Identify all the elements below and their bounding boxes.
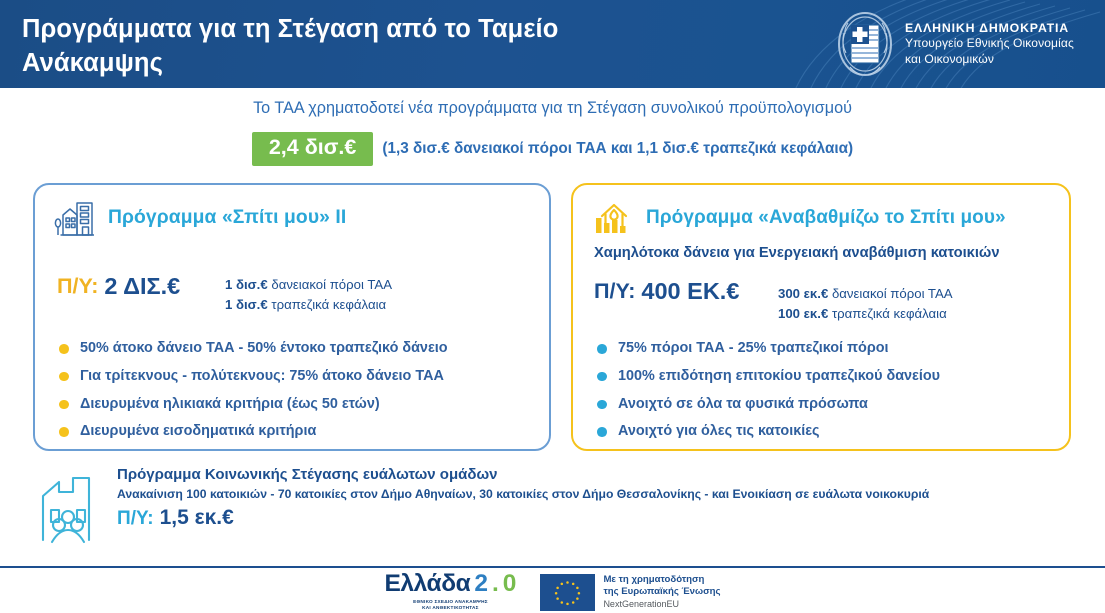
list-item: 50% άτοκο δάνειο ΤΑΑ - 50% έντοκο τραπεζ… (59, 340, 537, 357)
social-housing-section: Πρόγραμμα Κοινωνικής Στέγασης ευάλωτων ο… (33, 466, 1073, 552)
slide-header: Προγράμματα για τη Στέγαση από το Ταμείο… (0, 0, 1105, 88)
budget-value-right: 400 ΕΚ.€ (641, 279, 739, 305)
footer-divider (0, 566, 1105, 568)
breakdown-row: 1 δισ.€ τραπεζικά κεφάλαια (225, 295, 392, 315)
budget-label-right: Π/Υ: (594, 279, 635, 304)
building-house-icon (54, 199, 96, 237)
government-logo: ΕΛΛΗΝΙΚΗ ΔΗΜΟΚΡΑΤΙΑ Υπουργείο Εθνικής Οι… (836, 8, 1098, 80)
breakdown-amount: 1 δισ.€ (225, 297, 268, 312)
breakdown-amount: 300 εκ.€ (778, 286, 828, 301)
total-budget-row: 2,4 δισ.€ (1,3 δισ.€ δανειακοί πόροι ΤΑΑ… (0, 132, 1105, 166)
list-item: Ανοιχτό σε όλα τα φυσικά πρόσωπα (597, 396, 1057, 413)
slide-footer: Ελλάδα 2 . 0 ΕΘΝΙΚΟ ΣΧΕΔΙΟ ΑΝΑΚΑΜΨΗΣ ΚΑΙ… (0, 572, 1105, 613)
ellada-logo-subtitle: ΕΘΝΙΚΟ ΣΧΕΔΙΟ ΑΝΑΚΑΜΨΗΣ ΚΑΙ ΑΝΘΕΚΤΙΚΟΤΗΤ… (413, 599, 488, 613)
list-item: 100% επιδότηση επιτοκίου τραπεζικού δανε… (597, 368, 1057, 385)
bullet-list-right: 75% πόροι ΤΑΑ - 25% τραπεζικοί πόροι 100… (597, 340, 1057, 451)
breakdown-amount: 1 δισ.€ (225, 277, 268, 292)
eu-funding-block: Με τη χρηματοδότηση της Ευρωπαϊκής Ένωση… (540, 574, 720, 611)
slide-root: Προγράμματα για τη Στέγαση από το Ταμείο… (0, 0, 1105, 613)
program-card-spiti-mou-2[interactable]: Πρόγραμμα «Σπίτι μου» II Π/Υ: 2 ΔΙΣ.€ 1 … (33, 183, 551, 451)
budget-breakdown-right: 300 εκ.€ δανειακοί πόροι ΤΑΑ 100 εκ.€ τρ… (778, 284, 953, 324)
ellada-zero: 0 (503, 572, 517, 597)
breakdown-row: 300 εκ.€ δανειακοί πόροι ΤΑΑ (778, 284, 953, 304)
breakdown-text: δανειακοί πόροι ΤΑΑ (271, 277, 392, 292)
greek-coat-of-arms-icon (836, 11, 894, 77)
ellada-logo-wordmark: Ελλάδα 2 . 0 (384, 572, 516, 597)
social-housing-description: Ανακαίνιση 100 κατοικιών - 70 κατοικίες … (117, 487, 929, 501)
government-logo-text: ΕΛΛΗΝΙΚΗ ΔΗΜΟΚΡΑΤΙΑ Υπουργείο Εθνικής Οι… (905, 21, 1074, 68)
budget-left: Π/Υ: 2 ΔΙΣ.€ (57, 274, 180, 300)
eu-funding-line2: της Ευρωπαϊκής Ένωσης (603, 586, 720, 598)
gov-title-line3: και Οικονομικών (905, 52, 1074, 67)
social-housing-title: Πρόγραμμα Κοινωνικής Στέγασης ευάλωτων ο… (117, 466, 929, 483)
total-budget-badge: 2,4 δισ.€ (252, 132, 374, 166)
card-title-right: Πρόγραμμα «Αναβαθμίζω το Σπίτι μου» (646, 207, 1006, 229)
program-card-anavathmizo[interactable]: Πρόγραμμα «Αναβαθμίζω το Σπίτι μου» Χαμη… (571, 183, 1071, 451)
card-header-right: Πρόγραμμα «Αναβαθμίζω το Σπίτι μου» (592, 199, 1006, 237)
breakdown-text: τραπεζικά κεφάλαια (271, 297, 386, 312)
list-item: Για τρίτεκνους - πολύτεκνους: 75% άτοκο … (59, 368, 537, 385)
card-header-left: Πρόγραμμα «Σπίτι μου» II (54, 199, 346, 237)
gov-title-line1: ΕΛΛΗΝΙΚΗ ΔΗΜΟΚΡΑΤΙΑ (905, 21, 1074, 37)
social-housing-people-icon (33, 470, 103, 548)
gov-title-line2: Υπουργείο Εθνικής Οικονομίας (905, 36, 1074, 51)
list-item: Διευρυμένα εισοδηματικά κριτήρια (59, 423, 537, 440)
card-title-left: Πρόγραμμα «Σπίτι μου» II (108, 207, 346, 229)
eu-flag-icon (540, 574, 595, 611)
intro-subtitle: Το ΤΑΑ χρηματοδοτεί νέα προγράμματα για … (0, 99, 1105, 118)
budget-breakdown-left: 1 δισ.€ δανειακοί πόροι ΤΑΑ 1 δισ.€ τραπ… (225, 275, 392, 315)
budget-value-left: 2 ΔΙΣ.€ (104, 274, 180, 300)
social-housing-budget: Π/Υ: 1,5 εκ.€ (117, 506, 929, 530)
ellada-two: 2 (474, 572, 488, 597)
list-item: Διευρυμένα ηλικιακά κριτήρια (έως 50 ετώ… (59, 396, 537, 413)
ellada-dot: . (492, 572, 499, 597)
breakdown-row: 1 δισ.€ δανειακοί πόροι ΤΑΑ (225, 275, 392, 295)
eu-funding-text: Με τη χρηματοδότηση της Ευρωπαϊκής Ένωση… (603, 574, 720, 609)
ellada-word: Ελλάδα (384, 572, 470, 597)
breakdown-text: δανειακοί πόροι ΤΑΑ (832, 286, 953, 301)
budget-label-social: Π/Υ: (117, 508, 154, 530)
budget-right: Π/Υ: 400 ΕΚ.€ (594, 279, 739, 305)
footer-logos: Ελλάδα 2 . 0 ΕΘΝΙΚΟ ΣΧΕΔΙΟ ΑΝΑΚΑΜΨΗΣ ΚΑΙ… (0, 572, 1105, 612)
ellada-2-0-logo: Ελλάδα 2 . 0 ΕΘΝΙΚΟ ΣΧΕΔΙΟ ΑΝΑΚΑΜΨΗΣ ΚΑΙ… (384, 572, 516, 612)
bullet-list-left: 50% άτοκο δάνειο ΤΑΑ - 50% έντοκο τραπεζ… (59, 340, 537, 451)
list-item: Ανοιχτό για όλες τις κατοικίες (597, 423, 1057, 440)
budget-value-social: 1,5 εκ.€ (160, 506, 234, 529)
eu-funding-line3: NextGenerationEU (603, 599, 720, 610)
eu-funding-line1: Με τη χρηματοδότηση (603, 574, 720, 586)
breakdown-row: 100 εκ.€ τραπεζικά κεφάλαια (778, 304, 953, 324)
budget-label-left: Π/Υ: (57, 274, 98, 299)
breakdown-text: τραπεζικά κεφάλαια (832, 306, 947, 321)
list-item: 75% πόροι ΤΑΑ - 25% τραπεζικοί πόροι (597, 340, 1057, 357)
energy-home-chart-icon (592, 199, 634, 237)
page-title: Προγράμματα για τη Στέγαση από το Ταμείο… (22, 13, 762, 81)
breakdown-amount: 100 εκ.€ (778, 306, 828, 321)
social-housing-text: Πρόγραμμα Κοινωνικής Στέγασης ευάλωτων ο… (117, 466, 929, 530)
card-subtitle-right: Χαμηλότοκα δάνεια για Ενεργειακή αναβάθμ… (594, 245, 1000, 261)
total-budget-note: (1,3 δισ.€ δανειακοί πόροι ΤΑΑ και 1,1 δ… (382, 140, 853, 158)
